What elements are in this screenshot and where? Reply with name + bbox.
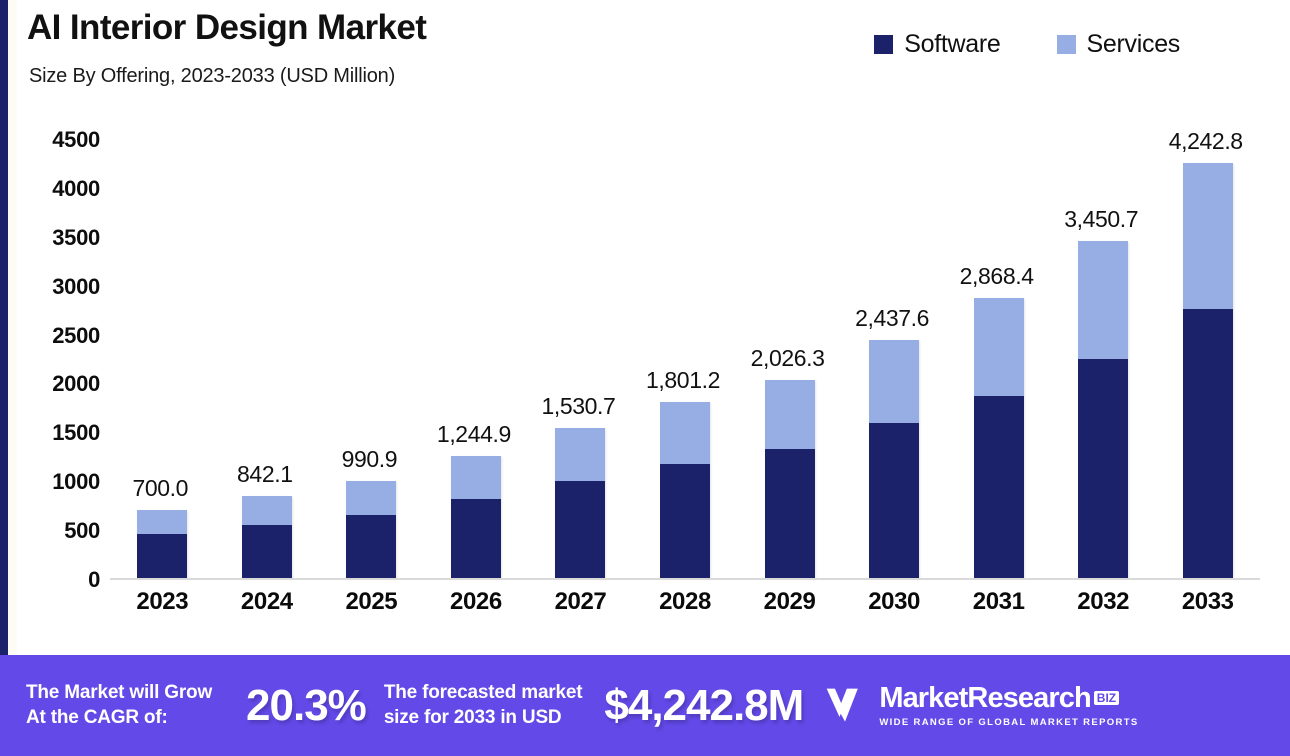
y-axis: 450040003500300025002000150010005000 [18,140,100,580]
stacked-bar[interactable] [660,402,710,578]
bar-segment-software[interactable] [242,525,292,578]
stacked-bar[interactable] [242,496,292,578]
chart-plot-area: 450040003500300025002000150010005000 700… [18,140,1288,650]
x-axis-baseline [110,578,1260,580]
y-axis-tick: 3000 [52,274,100,300]
bar-group-2026[interactable]: 1,244.9 [424,140,529,578]
forecast-caption: The forecasted market size for 2033 in U… [384,681,583,730]
stacked-bar[interactable] [555,428,605,578]
bar-segment-software[interactable] [451,499,501,578]
y-axis-tick: 1500 [52,420,100,446]
y-axis-tick: 4000 [52,176,100,202]
chart-infographic: AI Interior Design Market Size By Offeri… [0,0,1290,756]
cagr-value: 20.3% [246,681,366,731]
stacked-bar[interactable] [974,298,1024,578]
summary-banner: The Market will Grow At the CAGR of: 20.… [0,655,1290,756]
chart-subtitle: Size By Offering, 2023-2033 (USD Million… [18,65,1290,88]
bar-segment-services[interactable] [346,481,396,515]
legend-item-software[interactable]: Software [874,30,1000,59]
bar-value-label: 2,026.3 [751,345,825,372]
bar-segment-services[interactable] [451,456,501,499]
bar-value-label: 3,450.7 [1064,206,1138,233]
bar-segment-software[interactable] [555,481,605,578]
stacked-bar[interactable] [451,456,501,578]
x-axis-tick-2023: 2023 [110,588,215,636]
y-axis-tick: 4500 [52,127,100,153]
legend-label-software: Software [904,30,1000,59]
bar-value-label: 2,868.4 [960,263,1034,290]
square-swatch-icon [1057,35,1076,54]
bar-value-label: 990.9 [342,446,398,473]
bar-group-2033[interactable]: 4,242.8 [1155,140,1260,578]
x-axis-tick-2031: 2031 [946,588,1051,636]
forecast-value: $4,242.8M [604,681,803,731]
stacked-bar[interactable] [137,510,187,578]
bar-group-2024[interactable]: 842.1 [215,140,320,578]
bar-value-label: 4,242.8 [1169,128,1243,155]
x-axis-tick-2026: 2026 [424,588,529,636]
bar-group-2029[interactable]: 2,026.3 [737,140,842,578]
bar-value-label: 2,437.6 [855,305,929,332]
y-axis-tick: 3500 [52,225,100,251]
logo-name-main: MarketResearch [879,684,1090,713]
y-axis-tick: 1000 [52,469,100,495]
legend-item-services[interactable]: Services [1057,30,1180,59]
stacked-bar[interactable] [1183,163,1233,578]
y-axis-tick: 2000 [52,371,100,397]
bar-segment-software[interactable] [765,449,815,578]
cagr-caption-line2: At the CAGR of: [26,706,212,730]
plot-grid-area: 700.0842.1990.91,244.91,530.71,801.22,02… [110,140,1260,580]
bar-segment-services[interactable] [765,380,815,450]
y-axis-tick: 500 [64,518,100,544]
bar-segment-software[interactable] [974,396,1024,578]
left-accent-strip [8,0,17,655]
bar-segment-services[interactable] [660,402,710,464]
bar-segment-software[interactable] [346,515,396,578]
x-axis-tick-2024: 2024 [215,588,320,636]
cagr-caption: The Market will Grow At the CAGR of: [26,681,212,730]
bar-segment-services[interactable] [869,340,919,424]
bar-group-2031[interactable]: 2,868.4 [946,140,1051,578]
bar-value-label: 700.0 [132,475,188,502]
square-swatch-icon [874,35,893,54]
stacked-bar[interactable] [869,340,919,578]
x-axis-tick-2028: 2028 [633,588,738,636]
bar-segment-services[interactable] [1183,163,1233,309]
bar-segment-services[interactable] [242,496,292,525]
stacked-bar[interactable] [346,481,396,578]
bar-segment-software[interactable] [869,423,919,578]
x-axis-tick-2030: 2030 [842,588,947,636]
x-axis-tick-2032: 2032 [1051,588,1156,636]
bar-group-2030[interactable]: 2,437.6 [842,140,947,578]
logo-tagline: WIDE RANGE OF GLOBAL MARKET REPORTS [879,717,1138,728]
bar-segment-software[interactable] [660,464,710,578]
logo-badge-biz: BIZ [1094,691,1119,705]
bar-series-group: 700.0842.1990.91,244.91,530.71,801.22,02… [110,140,1260,578]
chart-legend: Software Services [874,30,1180,59]
y-axis-tick: 2500 [52,323,100,349]
bar-value-label: 1,244.9 [437,421,511,448]
bar-group-2032[interactable]: 3,450.7 [1051,140,1156,578]
logo-text: MarketResearch BIZ WIDE RANGE OF GLOBAL … [879,684,1138,728]
bar-value-label: 1,530.7 [541,393,615,420]
x-axis-tick-2025: 2025 [319,588,424,636]
cagr-caption-line1: The Market will Grow [26,681,212,705]
bar-value-label: 1,801.2 [646,367,720,394]
stacked-bar[interactable] [765,380,815,578]
checkmark-logo-icon [823,684,867,728]
bar-group-2023[interactable]: 700.0 [110,140,215,578]
x-axis: 2023202420252026202720282029203020312032… [110,588,1260,636]
brand-logo[interactable]: MarketResearch BIZ WIDE RANGE OF GLOBAL … [823,684,1138,728]
x-axis-tick-2027: 2027 [528,588,633,636]
bar-segment-software[interactable] [137,534,187,578]
bar-segment-software[interactable] [1078,359,1128,578]
chart-header: AI Interior Design Market Size By Offeri… [18,8,1290,128]
y-axis-tick: 0 [88,567,100,593]
bar-segment-services[interactable] [1078,241,1128,360]
bar-segment-services[interactable] [555,428,605,481]
bar-value-label: 842.1 [237,461,293,488]
forecast-caption-line1: The forecasted market [384,681,583,705]
bar-group-2028[interactable]: 1,801.2 [633,140,738,578]
x-axis-tick-2029: 2029 [737,588,842,636]
logo-name-row: MarketResearch BIZ [879,684,1138,713]
stacked-bar[interactable] [1078,241,1128,578]
bar-group-2027[interactable]: 1,530.7 [528,140,633,578]
bar-segment-services[interactable] [974,298,1024,397]
x-axis-tick-2033: 2033 [1155,588,1260,636]
bar-segment-software[interactable] [1183,309,1233,578]
bar-group-2025[interactable]: 990.9 [319,140,424,578]
bar-segment-services[interactable] [137,510,187,534]
forecast-caption-line2: size for 2033 in USD [384,706,583,730]
legend-label-services: Services [1087,30,1180,59]
